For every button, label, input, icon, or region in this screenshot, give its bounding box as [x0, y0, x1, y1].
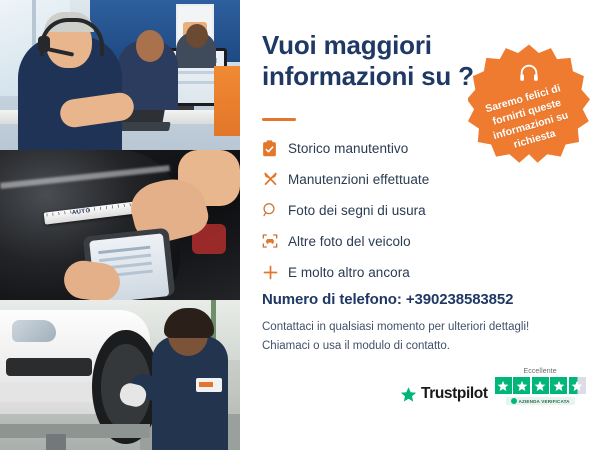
- star-half-5: [569, 377, 586, 394]
- photo-technician-inspecting-car-wheel-on-lift: [0, 300, 240, 450]
- star-filled-3: [532, 377, 549, 394]
- list-item: Manutenzioni effettuate: [262, 165, 512, 193]
- page-title-line-2: informazioni su ?: [262, 61, 502, 92]
- trustpilot-rating: Eccellente AZIENDA VERIFICATA: [495, 368, 586, 405]
- star-icon: [497, 380, 509, 392]
- clipboard-check-icon: [262, 140, 288, 157]
- orange-equipment: [214, 66, 240, 136]
- star-rating: [495, 377, 586, 394]
- title-underline-rule: [262, 118, 296, 121]
- photo-call-center-agents-with-headsets: [0, 0, 240, 150]
- content-panel: Vuoi maggiori informazioni su ? Saremo f…: [240, 0, 600, 450]
- feature-list: Storico manutentivo Manutenzioni effettu…: [262, 134, 512, 289]
- star-icon: [534, 380, 546, 392]
- clipboard-check-glyph: [262, 140, 277, 157]
- trustpilot-star-icon: [400, 386, 417, 403]
- list-item: E molto altro ancora: [262, 258, 512, 286]
- trustpilot-wordmark: Trustpilot: [421, 385, 488, 403]
- star-filled-2: [513, 377, 530, 394]
- list-item-label: E molto altro ancora: [288, 265, 410, 280]
- list-item: Storico manutentivo: [262, 134, 512, 162]
- list-item: Foto dei segni di usura: [262, 196, 512, 224]
- plus-icon: [262, 264, 288, 281]
- rating-label: Eccellente: [523, 368, 556, 375]
- tools-cross-icon: [262, 171, 288, 188]
- background-person-3-head: [186, 24, 208, 48]
- photo-vehicle-damage-inspection-with-ruler-and-tablet: [0, 150, 240, 300]
- background-person-2-head: [136, 30, 164, 62]
- list-item-label: Storico manutentivo: [288, 141, 408, 156]
- list-item-label: Foto dei segni di usura: [288, 203, 426, 218]
- verified-check-icon: [511, 398, 517, 404]
- photo-column: [0, 0, 240, 450]
- verified-company-badge: AZIENDA VERIFICATA: [506, 397, 575, 405]
- car-grille: [6, 358, 92, 376]
- page-title: Vuoi maggiori informazioni su ?: [262, 30, 502, 91]
- list-item-label: Manutenzioni effettuate: [288, 172, 429, 187]
- list-item: Altre foto del veicolo: [262, 227, 512, 255]
- car-scan-glyph: [262, 233, 278, 249]
- vehicle-lift-arm: [0, 424, 150, 438]
- star-icon: [571, 380, 583, 392]
- technician-uniform-badge: [196, 378, 222, 392]
- page-title-line-1: Vuoi maggiori: [262, 30, 502, 61]
- contact-description-line-2: Chiamaci o usa il modulo di contatto.: [262, 337, 562, 356]
- promo-card: Vuoi maggiori informazioni su ? Saremo f…: [0, 0, 600, 450]
- star-icon: [516, 380, 528, 392]
- magnifier-glyph: [262, 202, 278, 218]
- trustpilot-widget[interactable]: Trustpilot Eccellente AZIENDA VERIFICATA: [400, 368, 586, 405]
- contact-description: Contattaci in qualsiasi momento per ulte…: [262, 318, 562, 355]
- magnifier-icon: [262, 202, 288, 218]
- phone-number[interactable]: Numero di telefono: +390238583852: [262, 291, 513, 308]
- tools-cross-glyph: [262, 171, 279, 188]
- plus-glyph: [262, 264, 279, 281]
- vehicle-lift-post: [46, 434, 66, 450]
- star-filled-4: [550, 377, 567, 394]
- contact-description-line-1: Contattaci in qualsiasi momento per ulte…: [262, 318, 562, 337]
- headset-icon: [518, 62, 540, 84]
- car-scan-icon: [262, 233, 288, 249]
- verified-company-label: AZIENDA VERIFICATA: [519, 399, 570, 404]
- star-icon: [553, 380, 565, 392]
- car-headlight: [12, 320, 56, 342]
- list-item-label: Altre foto del veicolo: [288, 234, 411, 249]
- trustpilot-logo: Trustpilot: [400, 385, 488, 405]
- star-filled-1: [495, 377, 512, 394]
